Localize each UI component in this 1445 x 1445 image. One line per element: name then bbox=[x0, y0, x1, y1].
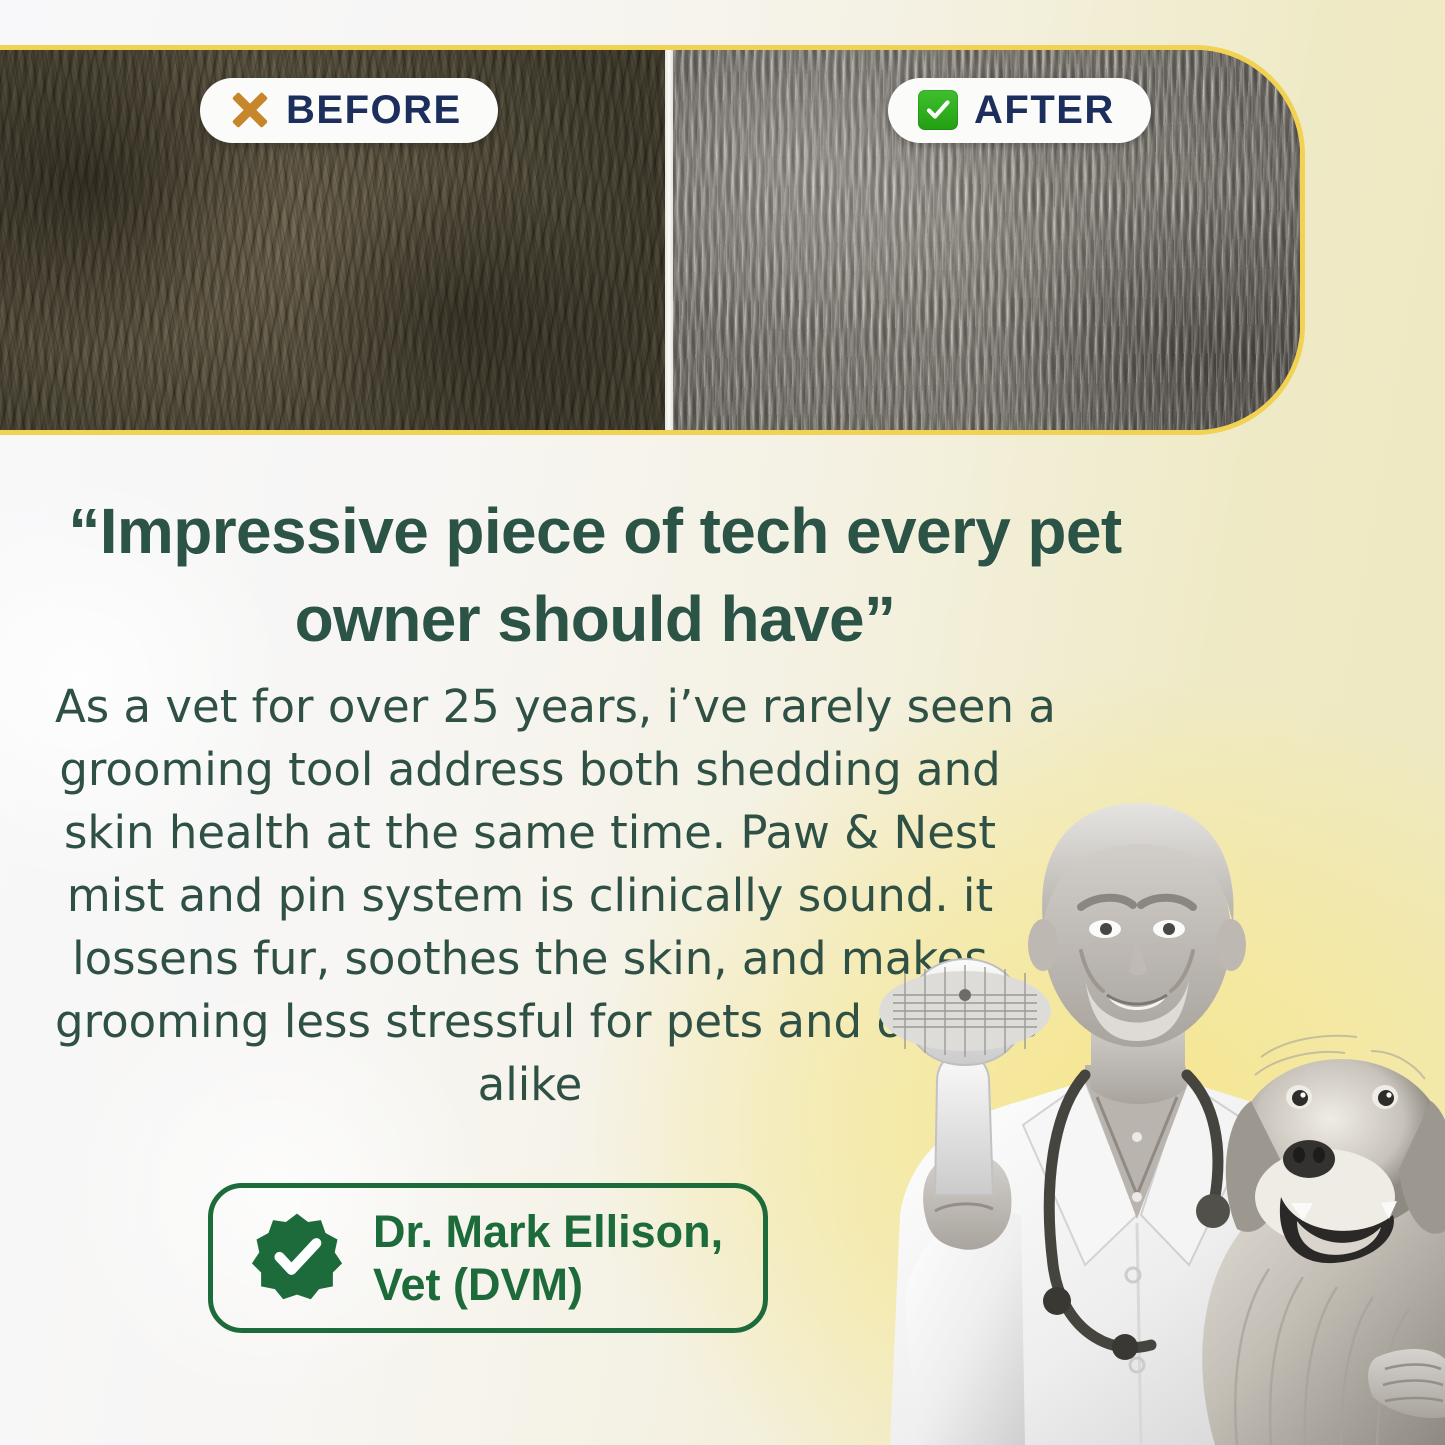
testimonial-paragraph: As a vet for over 25 years, i’ve rarely … bbox=[55, 675, 1005, 1116]
testimonial-line: mist and pin system is clinically sound.… bbox=[55, 864, 1005, 927]
testimonial-line: As a vet for over 25 years, i’ve rarely … bbox=[55, 675, 1005, 738]
verified-badge-check-icon bbox=[251, 1210, 343, 1307]
comparison-divider bbox=[665, 50, 673, 430]
testimonial-line: alike bbox=[55, 1053, 1005, 1116]
credential-badge: Dr. Mark Ellison, Vet (DVM) bbox=[208, 1183, 768, 1333]
credential-name: Dr. Mark Ellison, bbox=[373, 1205, 723, 1258]
green-check-box-icon bbox=[918, 90, 958, 130]
credential-title: Vet (DVM) bbox=[373, 1258, 723, 1311]
after-label-text: AFTER bbox=[974, 90, 1115, 130]
credential-text: Dr. Mark Ellison, Vet (DVM) bbox=[373, 1205, 723, 1311]
testimonial-line: grooming tool address both shedding and bbox=[55, 738, 1005, 801]
before-label-text: BEFORE bbox=[286, 90, 462, 130]
testimonial-line: skin health at the same time. Paw & Nest bbox=[55, 801, 1005, 864]
testimonial-line: grooming less stressful for pets and own… bbox=[55, 990, 1005, 1053]
headline-quote: “Impressive piece of tech every pet owne… bbox=[0, 487, 1190, 664]
before-label-pill: BEFORE bbox=[200, 78, 498, 143]
promo-card: BEFORE AFTER “Impressive piece of tech e… bbox=[0, 0, 1445, 1445]
testimonial-line: lossens fur, soothes the skin, and makes bbox=[55, 927, 1005, 990]
after-label-pill: AFTER bbox=[888, 78, 1151, 143]
x-mark-icon bbox=[230, 90, 270, 130]
